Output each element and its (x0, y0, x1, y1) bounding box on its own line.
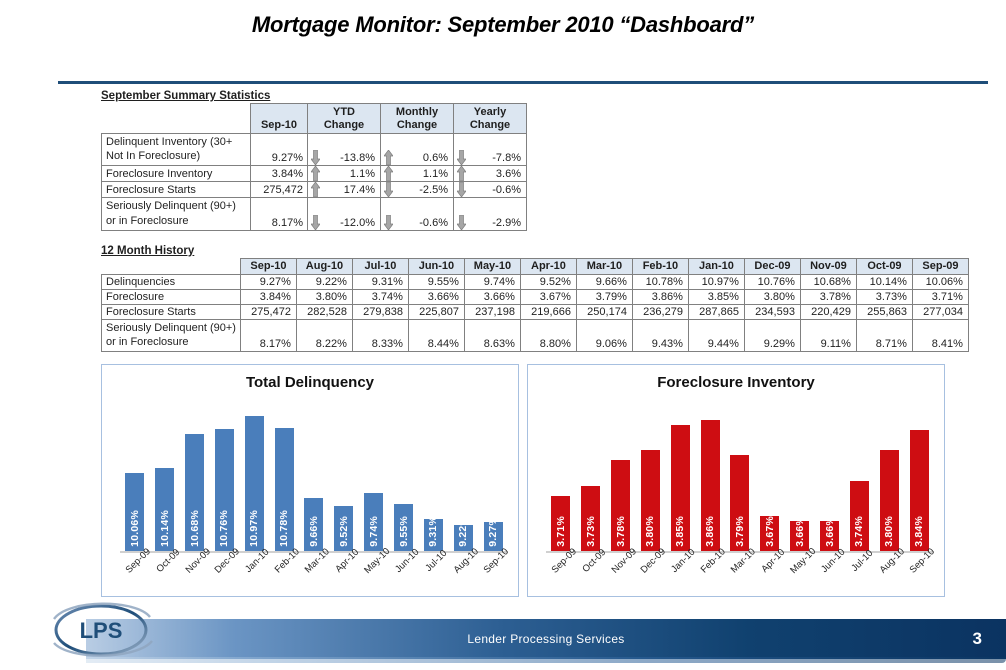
bar-value-label: 9.52% (338, 516, 350, 547)
history-column-header: Aug-10 (296, 259, 352, 275)
summary-header-yearly-line2: Change (458, 119, 522, 132)
arrow-up-icon (311, 182, 320, 197)
bar: 10.78% (275, 428, 294, 551)
bar-value-label: 3.85% (674, 516, 686, 547)
bar: 3.86% (701, 420, 720, 551)
table-row: Foreclosure Inventory3.84%1.1%1.1%3.6% (102, 166, 527, 182)
bar: 9.22% (454, 525, 473, 551)
history-cell: 3.73% (856, 289, 912, 304)
history-table-body: Delinquencies9.27%9.22%9.31%9.55%9.74%9.… (102, 274, 969, 352)
bar-value-label: 3.78% (615, 516, 627, 547)
chart-total-delinquency: Total Delinquency 10.06%10.14%10.68%10.7… (101, 364, 519, 597)
twelve-month-history-table: Sep-10Aug-10Jul-10Jun-10May-10Apr-10Mar-… (101, 258, 969, 352)
arrow-up-icon (311, 166, 320, 181)
chart-foreclosure-inventory: Foreclosure Inventory 3.71%3.73%3.78%3.8… (527, 364, 945, 597)
bar-slot: 3.84% (904, 405, 934, 551)
summary-header-period: Sep-10 (251, 104, 308, 134)
summary-change-arrow (381, 182, 397, 198)
bar-value-label: 9.55% (398, 516, 410, 547)
bar-value-label: 3.79% (734, 516, 746, 547)
history-cell: 9.22% (296, 274, 352, 289)
bar: 3.80% (641, 450, 660, 551)
table-row: Foreclosure3.84%3.80%3.74%3.66%3.66%3.67… (102, 289, 969, 304)
summary-row-label-line1: Delinquent Inventory (30+ (106, 135, 246, 150)
x-axis-labels-foreclosure-inventory: Sep-09Oct-09Nov-09Dec-09Jan-10Feb-10Mar-… (546, 555, 934, 597)
summary-row-label: Delinquent Inventory (30+Not In Foreclos… (102, 133, 251, 166)
plot-area-total-delinquency: 10.06%10.14%10.68%10.76%10.97%10.78%9.66… (120, 405, 508, 553)
bar-slot: 9.27% (478, 405, 508, 551)
x-label-slot: Jun-10 (389, 555, 419, 597)
bar-slot: 3.74% (844, 405, 874, 551)
x-label-slot: Sep-09 (546, 555, 576, 597)
x-label-slot: Aug-10 (874, 555, 904, 597)
history-cell: 9.06% (576, 319, 632, 352)
arrow-down-icon (457, 150, 466, 165)
table-row: Seriously Delinquent (90+)or in Foreclos… (102, 319, 969, 352)
summary-header-blank (102, 104, 251, 134)
history-cell: 3.66% (464, 289, 520, 304)
bar-slot: 3.73% (576, 405, 606, 551)
summary-row-value: 8.17% (251, 198, 308, 231)
bar-value-label: 3.80% (644, 516, 656, 547)
table-row: Delinquent Inventory (30+Not In Foreclos… (102, 133, 527, 166)
bar-slot: 9.55% (389, 405, 419, 551)
history-cell: 282,528 (296, 304, 352, 319)
bar-value-label: 9.22% (457, 516, 469, 547)
history-cell: 8.22% (296, 319, 352, 352)
history-section-heading: 12 Month History (101, 245, 194, 257)
lps-logo: LPS (40, 597, 162, 663)
page-number: 3 (973, 619, 982, 659)
history-cell: 9.11% (800, 319, 856, 352)
summary-row-value: 9.27% (251, 133, 308, 166)
summary-change-arrow (308, 166, 324, 182)
summary-header-period-label: Sep-10 (255, 119, 303, 132)
footer-bar: Lender Processing Services 3 (86, 619, 1006, 659)
bar-series-foreclosure-inventory: 3.71%3.73%3.78%3.80%3.85%3.86%3.79%3.67%… (546, 405, 934, 551)
arrow-down-icon (384, 215, 393, 230)
table-row: Foreclosure Starts275,472282,528279,8382… (102, 304, 969, 319)
summary-change-arrow (454, 166, 470, 182)
arrow-up-icon (384, 150, 393, 165)
bar: 3.79% (730, 455, 749, 551)
arrow-up-icon (384, 166, 393, 181)
bar-value-label: 9.66% (308, 516, 320, 547)
history-cell: 9.29% (744, 319, 800, 352)
bar-slot: 10.76% (210, 405, 240, 551)
lps-logo-text: LPS (80, 618, 123, 643)
bar-value-label: 3.84% (913, 516, 925, 547)
history-cell: 8.80% (520, 319, 576, 352)
summary-change-arrow (308, 133, 324, 166)
bar-value-label: 10.97% (248, 510, 260, 547)
summary-change-arrow (308, 198, 324, 231)
x-label-slot: May-10 (785, 555, 815, 597)
history-cell: 10.76% (744, 274, 800, 289)
history-cell: 234,593 (744, 304, 800, 319)
bar: 10.97% (245, 416, 264, 551)
summary-change-arrow (381, 198, 397, 231)
bar-value-label: 10.06% (129, 510, 141, 547)
bar-slot: 3.66% (815, 405, 845, 551)
bar-series-total-delinquency: 10.06%10.14%10.68%10.76%10.97%10.78%9.66… (120, 405, 508, 551)
bar-slot: 10.06% (120, 405, 150, 551)
summary-header-yearly-line1: Yearly (458, 106, 522, 119)
history-row-label: Foreclosure (102, 289, 241, 304)
x-label-slot: Feb-10 (269, 555, 299, 597)
summary-header-ytd: YTD Change (308, 104, 381, 134)
summary-header-ytd-line1: YTD (312, 106, 376, 119)
bar: 3.80% (880, 450, 899, 551)
bar-value-label: 10.14% (159, 510, 171, 547)
bar-value-label: 3.86% (704, 516, 716, 547)
history-cell: 3.78% (800, 289, 856, 304)
summary-change-arrow (454, 182, 470, 198)
lps-logo-icon: LPS (40, 597, 162, 663)
summary-header-monthly-line2: Change (385, 119, 449, 132)
summary-change-arrow (454, 198, 470, 231)
bar: 9.66% (304, 498, 323, 551)
history-cell: 10.06% (912, 274, 968, 289)
x-axis-labels-total-delinquency: Sep-09Oct-09Nov-09Dec-09Jan-10Feb-10Mar-… (120, 555, 508, 597)
history-cell: 3.67% (520, 289, 576, 304)
history-cell: 3.85% (688, 289, 744, 304)
history-column-header: Jun-10 (408, 259, 464, 275)
history-cell: 10.97% (688, 274, 744, 289)
summary-change-value: -0.6% (469, 182, 527, 198)
history-cell: 10.78% (632, 274, 688, 289)
footer-company-name: Lender Processing Services (86, 619, 1006, 659)
bar-slot: 10.68% (180, 405, 210, 551)
history-column-header: Nov-09 (800, 259, 856, 275)
x-label-slot: Mar-10 (725, 555, 755, 597)
history-cell: 287,865 (688, 304, 744, 319)
summary-row-label: Foreclosure Inventory (102, 166, 251, 182)
history-cell: 9.44% (688, 319, 744, 352)
bar: 3.85% (671, 425, 690, 551)
bar-value-label: 9.27% (487, 516, 499, 547)
bar-slot: 3.71% (546, 405, 576, 551)
arrow-down-icon (457, 215, 466, 230)
bar: 3.74% (850, 481, 869, 551)
bar-value-label: 3.67% (764, 516, 776, 547)
title-divider (58, 81, 988, 84)
arrow-up-icon (457, 166, 466, 181)
bar: 3.84% (910, 430, 929, 551)
arrow-down-icon (311, 215, 320, 230)
history-row-label: Foreclosure Starts (102, 304, 241, 319)
history-column-header: Oct-09 (856, 259, 912, 275)
bar-slot: 3.66% (785, 405, 815, 551)
history-cell: 9.66% (576, 274, 632, 289)
bar-slot: 3.80% (874, 405, 904, 551)
summary-row-label-line2: Not In Foreclosure) (106, 149, 246, 164)
history-column-header: Jul-10 (352, 259, 408, 275)
history-cell: 9.52% (520, 274, 576, 289)
history-cell: 225,807 (408, 304, 464, 319)
arrow-down-icon (457, 182, 466, 197)
summary-header-ytd-line2: Change (312, 119, 376, 132)
history-cell: 3.79% (576, 289, 632, 304)
bar-slot: 10.78% (269, 405, 299, 551)
history-cell: 8.71% (856, 319, 912, 352)
x-label-slot: May-10 (359, 555, 389, 597)
bar-value-label: 10.68% (189, 510, 201, 547)
bar: 10.06% (125, 473, 144, 551)
x-label-slot: Jun-10 (815, 555, 845, 597)
history-cell: 237,198 (464, 304, 520, 319)
bar-slot: 3.80% (636, 405, 666, 551)
history-cell: 275,472 (240, 304, 296, 319)
summary-change-value: -13.8% (323, 133, 381, 166)
summary-change-value: -0.6% (396, 198, 454, 231)
bar: 3.67% (760, 516, 779, 551)
summary-table-head: Sep-10 YTD Change Monthly Change Yearly … (102, 104, 527, 134)
history-column-header: Feb-10 (632, 259, 688, 275)
bar-slot: 9.66% (299, 405, 329, 551)
bar-slot: 3.85% (665, 405, 695, 551)
chart-title-total-delinquency: Total Delinquency (102, 374, 518, 391)
history-cell: 9.27% (240, 274, 296, 289)
table-row: Seriously Delinquent (90+)or in Foreclos… (102, 198, 527, 231)
history-cell: 3.66% (408, 289, 464, 304)
x-label-slot: Apr-10 (755, 555, 785, 597)
history-cell: 9.74% (464, 274, 520, 289)
bar: 9.52% (334, 506, 353, 551)
summary-change-arrow (308, 182, 324, 198)
bar-slot: 3.79% (725, 405, 755, 551)
history-column-header: Mar-10 (576, 259, 632, 275)
history-row-label: Seriously Delinquent (90+)or in Foreclos… (102, 319, 241, 352)
bar: 9.31% (424, 519, 443, 551)
bar: 10.14% (155, 468, 174, 551)
x-label-slot: Mar-10 (299, 555, 329, 597)
summary-change-arrow (381, 133, 397, 166)
history-cell: 3.84% (240, 289, 296, 304)
history-cell: 10.14% (856, 274, 912, 289)
summary-change-value: -2.9% (469, 198, 527, 231)
history-column-header: Dec-09 (744, 259, 800, 275)
summary-change-value: -7.8% (469, 133, 527, 166)
history-cell: 8.33% (352, 319, 408, 352)
history-row-label-line2: or in Foreclosure (106, 335, 236, 350)
history-column-header: Apr-10 (520, 259, 576, 275)
bar-slot: 9.74% (359, 405, 389, 551)
x-label-slot: Dec-09 (636, 555, 666, 597)
bar-slot: 9.31% (418, 405, 448, 551)
history-cell: 236,279 (632, 304, 688, 319)
history-cell: 9.43% (632, 319, 688, 352)
summary-change-value: 0.6% (396, 133, 454, 166)
summary-header-yearly: Yearly Change (454, 104, 527, 134)
bar: 10.68% (185, 434, 204, 551)
page-title: Mortgage Monitor: September 2010 “Dashbo… (0, 12, 1006, 38)
table-row: Delinquencies9.27%9.22%9.31%9.55%9.74%9.… (102, 274, 969, 289)
bar: 3.73% (581, 486, 600, 551)
history-header-blank (102, 259, 241, 275)
x-label-slot: Dec-09 (210, 555, 240, 597)
bar: 10.76% (215, 429, 234, 551)
summary-header-monthly: Monthly Change (381, 104, 454, 134)
bar: 3.66% (790, 521, 809, 551)
x-label-slot: Jan-10 (665, 555, 695, 597)
x-label-slot: Oct-09 (576, 555, 606, 597)
bar-value-label: 3.73% (585, 516, 597, 547)
summary-row-label-line2: or in Foreclosure (106, 214, 246, 229)
bar-slot: 3.78% (606, 405, 636, 551)
x-label-slot: Aug-10 (448, 555, 478, 597)
history-cell: 3.80% (296, 289, 352, 304)
history-column-header: Jan-10 (688, 259, 744, 275)
bar: 9.74% (364, 493, 383, 551)
bar-slot: 9.52% (329, 405, 359, 551)
summary-header-monthly-line1: Monthly (385, 106, 449, 119)
x-label-slot: Jan-10 (239, 555, 269, 597)
bar-value-label: 10.76% (218, 510, 230, 547)
bar-value-label: 3.66% (794, 516, 806, 547)
history-row-label: Delinquencies (102, 274, 241, 289)
summary-change-value: -12.0% (323, 198, 381, 231)
summary-change-value: 3.6% (469, 166, 527, 182)
bar: 9.55% (394, 504, 413, 551)
history-cell: 255,863 (856, 304, 912, 319)
history-cell: 8.44% (408, 319, 464, 352)
bar: 9.27% (484, 522, 503, 551)
bar-slot: 10.14% (150, 405, 180, 551)
bar-value-label: 3.66% (824, 516, 836, 547)
bar-value-label: 10.78% (278, 510, 290, 547)
summary-header-row: Sep-10 YTD Change Monthly Change Yearly … (102, 104, 527, 134)
bar: 3.71% (551, 496, 570, 551)
history-cell: 9.31% (352, 274, 408, 289)
history-cell: 9.55% (408, 274, 464, 289)
history-cell: 8.63% (464, 319, 520, 352)
summary-change-arrow (454, 133, 470, 166)
x-label-slot: Jul-10 (418, 555, 448, 597)
x-label-slot: Sep-09 (120, 555, 150, 597)
history-cell: 3.71% (912, 289, 968, 304)
summary-row-value: 275,472 (251, 182, 308, 198)
summary-table-body: Delinquent Inventory (30+Not In Foreclos… (102, 133, 527, 230)
history-cell: 8.41% (912, 319, 968, 352)
summary-statistics-table: Sep-10 YTD Change Monthly Change Yearly … (101, 103, 527, 231)
history-cell: 3.80% (744, 289, 800, 304)
x-label-slot: Nov-09 (180, 555, 210, 597)
bar-slot: 3.86% (695, 405, 725, 551)
bar-value-label: 9.74% (368, 516, 380, 547)
plot-area-foreclosure-inventory: 3.71%3.73%3.78%3.80%3.85%3.86%3.79%3.67%… (546, 405, 934, 553)
summary-section-heading: September Summary Statistics (101, 90, 270, 102)
bar-value-label: 3.71% (555, 516, 567, 547)
bar-slot: 3.67% (755, 405, 785, 551)
chart-title-foreclosure-inventory: Foreclosure Inventory (528, 374, 944, 391)
summary-change-arrow (381, 166, 397, 182)
bar-slot: 9.22% (448, 405, 478, 551)
history-cell: 219,666 (520, 304, 576, 319)
history-column-header: Sep-09 (912, 259, 968, 275)
history-cell: 3.86% (632, 289, 688, 304)
bar-slot: 10.97% (239, 405, 269, 551)
history-cell: 277,034 (912, 304, 968, 319)
x-label-slot: Sep-10 (904, 555, 934, 597)
x-label-slot: Feb-10 (695, 555, 725, 597)
summary-change-value: 1.1% (323, 166, 381, 182)
summary-row-label-line1: Seriously Delinquent (90+) (106, 199, 246, 214)
history-row-label-line1: Seriously Delinquent (90+) (106, 321, 236, 336)
arrow-down-icon (311, 150, 320, 165)
summary-row-label: Foreclosure Starts (102, 182, 251, 198)
history-cell: 279,838 (352, 304, 408, 319)
history-header-row: Sep-10Aug-10Jul-10Jun-10May-10Apr-10Mar-… (102, 259, 969, 275)
x-label-slot: Oct-09 (150, 555, 180, 597)
bar-value-label: 9.31% (427, 516, 439, 547)
history-cell: 8.17% (240, 319, 296, 352)
arrow-down-icon (384, 182, 393, 197)
summary-change-value: 17.4% (323, 182, 381, 198)
history-cell: 220,429 (800, 304, 856, 319)
history-column-header: Sep-10 (240, 259, 296, 275)
x-label-slot: Apr-10 (329, 555, 359, 597)
summary-row-label: Seriously Delinquent (90+)or in Foreclos… (102, 198, 251, 231)
bar-value-label: 3.80% (883, 516, 895, 547)
summary-row-value: 3.84% (251, 166, 308, 182)
history-column-header: May-10 (464, 259, 520, 275)
history-cell: 250,174 (576, 304, 632, 319)
summary-change-value: -2.5% (396, 182, 454, 198)
table-row: Foreclosure Starts275,47217.4%-2.5%-0.6% (102, 182, 527, 198)
x-label-slot: Nov-09 (606, 555, 636, 597)
x-label-slot: Jul-10 (844, 555, 874, 597)
history-table-head: Sep-10Aug-10Jul-10Jun-10May-10Apr-10Mar-… (102, 259, 969, 275)
bar: 3.78% (611, 460, 630, 551)
bar: 3.66% (820, 521, 839, 551)
history-cell: 3.74% (352, 289, 408, 304)
history-cell: 10.68% (800, 274, 856, 289)
summary-change-value: 1.1% (396, 166, 454, 182)
x-label-slot: Sep-10 (478, 555, 508, 597)
bar-value-label: 3.74% (853, 516, 865, 547)
